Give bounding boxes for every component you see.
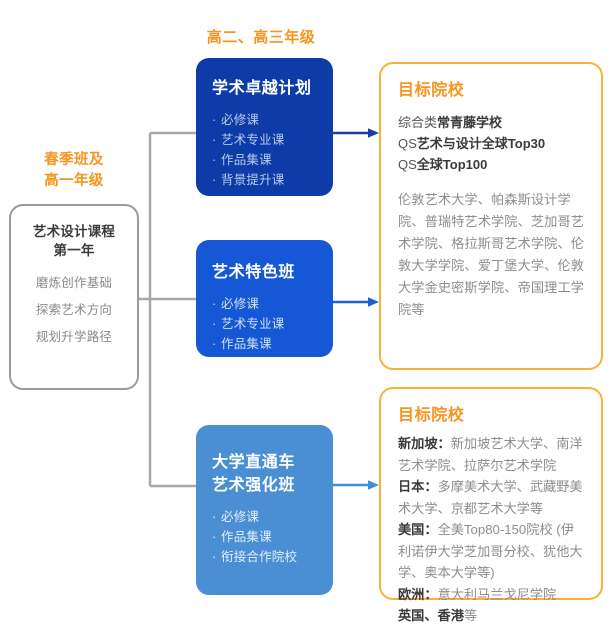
region-label: 欧洲：	[398, 587, 438, 602]
program-card-academic[interactable]: 学术卓越计划 ·必修课 ·艺术专业课 ·作品集课 ·背景提升课	[196, 58, 333, 196]
program-list-item-label: 作品集课	[221, 337, 272, 351]
program-card-direct-list: ·必修课 ·作品集课 ·衔接合作院校	[212, 507, 317, 567]
target-schools-paragraph: 伦敦艺术大学、帕森斯设计学院、普瑞特艺术学院、芝加哥艺术学院、格拉斯哥艺术学院、…	[398, 189, 587, 321]
highlight-bold: 全球Top100	[417, 157, 488, 172]
region-label-text: 新加坡：	[398, 436, 451, 451]
program-list-item-label: 衔接合作院校	[221, 550, 297, 564]
region-label: 新加坡：	[398, 436, 451, 451]
region-text: 意大利马兰戈尼学院	[438, 587, 557, 602]
stage-label-senior-text: 高二、高三年级	[207, 29, 316, 46]
program-card-direct-title: 大学直通车 艺术强化班	[212, 451, 317, 497]
region-label: 日本：	[398, 479, 438, 494]
program-list-item: ·作品集课	[212, 527, 317, 547]
program-card-feature-title: 艺术特色班	[212, 261, 317, 284]
year-one-list: 磨炼创作基础 探索艺术方向 规划升学路径	[11, 270, 137, 351]
program-card-academic-list: ·必修课 ·艺术专业课 ·作品集课 ·背景提升课	[212, 110, 317, 190]
stage-label-senior: 高二、高三年级	[181, 28, 341, 48]
bullet-dot-icon: ·	[212, 547, 221, 567]
target-schools-regions: 新加坡：新加坡艺术大学、南洋艺术学院、拉萨尔艺术学院 日本：多摩美术大学、武藏野…	[398, 433, 587, 627]
highlight-normal: QS	[398, 136, 417, 151]
program-list-item-label: 作品集课	[221, 153, 272, 167]
region-label-text: 日本：	[398, 479, 438, 494]
spacer	[398, 175, 587, 189]
bullet-dot-icon: ·	[212, 130, 221, 150]
highlight-line: 综合类常青藤学校	[398, 112, 587, 133]
year-one-card: 艺术设计课程 第一年 磨炼创作基础 探索艺术方向 规划升学路径	[9, 204, 139, 390]
bullet-dot-icon: ·	[212, 507, 221, 527]
highlight-line: QS艺术与设计全球Top30	[398, 133, 587, 154]
program-list-item-label: 艺术专业课	[221, 317, 285, 331]
program-list-item-label: 必修课	[221, 297, 259, 311]
program-list-item: ·必修课	[212, 507, 317, 527]
program-list-item-label: 背景提升课	[221, 173, 285, 187]
highlight-bold: 艺术与设计全球Top30	[417, 136, 545, 151]
highlight-normal: 综合类	[398, 115, 437, 130]
program-card-academic-title: 学术卓越计划	[212, 77, 317, 100]
stage-label-spring-line1: 春季班及	[8, 150, 140, 171]
bullet-dot-icon: ·	[212, 170, 221, 190]
program-list-item: ·必修课	[212, 294, 317, 314]
year-one-title: 艺术设计课程 第一年	[33, 222, 115, 260]
program-card-feature[interactable]: 艺术特色班 ·必修课 ·艺术专业课 ·作品集课	[196, 240, 333, 357]
program-list-item-label: 必修课	[221, 510, 259, 524]
program-list-item-label: 艺术专业课	[221, 133, 285, 147]
program-list-item: ·作品集课	[212, 150, 317, 170]
highlight-line: QS全球Top100	[398, 154, 587, 175]
year-one-item: 探索艺术方向	[11, 297, 137, 324]
target-schools-title: 目标院校	[398, 80, 587, 102]
program-card-direct-title-line1: 大学直通车	[212, 451, 317, 474]
bullet-dot-icon: ·	[212, 110, 221, 130]
highlight-bold: 常青藤学校	[437, 115, 502, 130]
region-label-text: 欧洲：	[398, 587, 438, 602]
program-list-item-label: 必修课	[221, 113, 259, 127]
region-label-text: 美国：	[398, 522, 438, 537]
stage-label-spring: 春季班及 高一年级	[8, 150, 140, 192]
region-label-text: 英国、香港	[398, 608, 464, 623]
program-list-item: ·必修课	[212, 110, 317, 130]
bullet-dot-icon: ·	[212, 527, 221, 547]
bullet-dot-icon: ·	[212, 150, 221, 170]
bullet-dot-icon: ·	[212, 334, 221, 354]
program-card-feature-list: ·必修课 ·艺术专业课 ·作品集课	[212, 294, 317, 354]
target-schools-card-top: 目标院校 综合类常青藤学校 QS艺术与设计全球Top30 QS全球Top100 …	[379, 62, 603, 370]
program-list-item: ·背景提升课	[212, 170, 317, 190]
program-list-item-label: 作品集课	[221, 530, 272, 544]
stage-label-spring-line2: 高一年级	[8, 171, 140, 192]
bullet-dot-icon: ·	[212, 314, 221, 334]
target-schools-card-bottom: 目标院校 新加坡：新加坡艺术大学、南洋艺术学院、拉萨尔艺术学院 日本：多摩美术大…	[379, 387, 603, 600]
region-label: 英国、香港	[398, 608, 464, 623]
program-list-item: ·作品集课	[212, 334, 317, 354]
diagram-canvas: 高二、高三年级 春季班及 高一年级 艺术设计课程 第一年 磨炼创作基础 探索艺术…	[0, 0, 612, 608]
year-one-item: 规划升学路径	[11, 324, 137, 351]
program-list-item: ·艺术专业课	[212, 314, 317, 334]
target-schools-highlights: 综合类常青藤学校 QS艺术与设计全球Top30 QS全球Top100	[398, 112, 587, 175]
target-schools-title: 目标院校	[398, 405, 587, 427]
year-one-title-line2: 第一年	[33, 241, 115, 260]
highlight-normal: QS	[398, 157, 417, 172]
program-card-direct[interactable]: 大学直通车 艺术强化班 ·必修课 ·作品集课 ·衔接合作院校	[196, 425, 333, 595]
program-list-item: ·衔接合作院校	[212, 547, 317, 567]
region-text: 等	[464, 608, 477, 623]
region-label: 美国：	[398, 522, 438, 537]
bullet-dot-icon: ·	[212, 294, 221, 314]
program-list-item: ·艺术专业课	[212, 130, 317, 150]
program-card-direct-title-line2: 艺术强化班	[212, 474, 317, 497]
year-one-item: 磨炼创作基础	[11, 270, 137, 297]
year-one-title-line1: 艺术设计课程	[33, 222, 115, 241]
